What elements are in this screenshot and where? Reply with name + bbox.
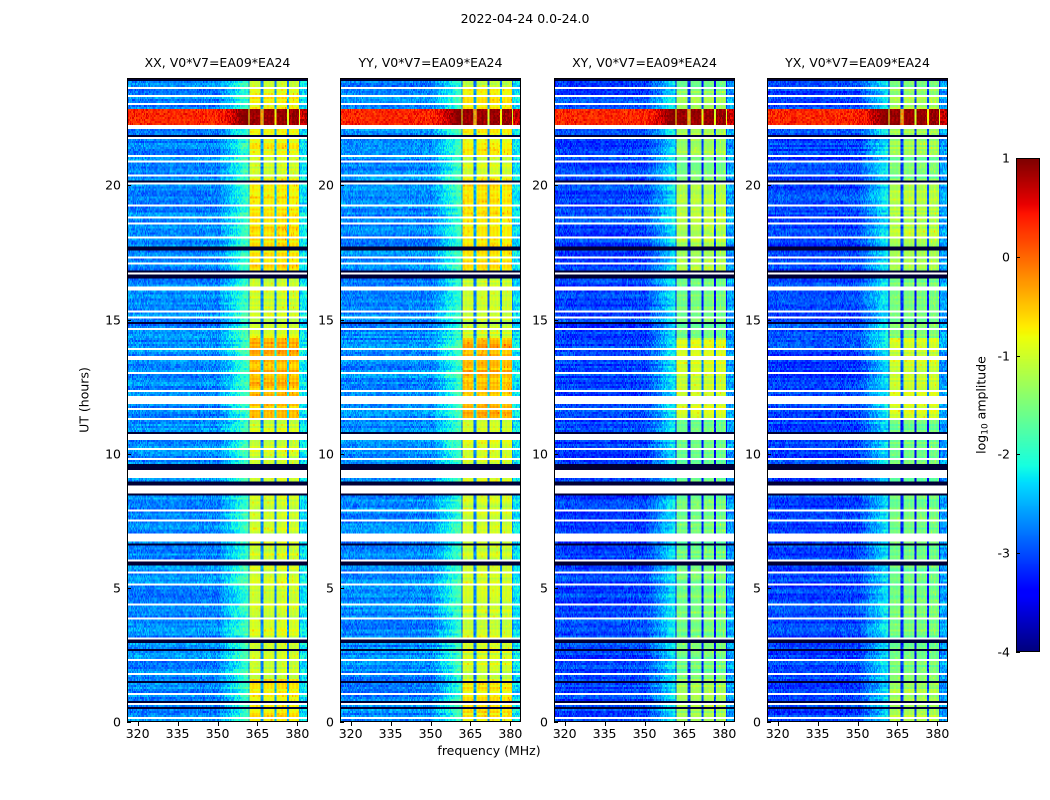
x-tick-label-yx-1: 335 bbox=[806, 726, 830, 741]
colorbar-tick-2 bbox=[1016, 454, 1020, 455]
plot-area-yx[interactable] bbox=[767, 78, 948, 722]
y-tick-label-xy-0: 0 bbox=[512, 715, 548, 730]
y-tick-yy-2 bbox=[340, 454, 344, 455]
colorbar-tick-5 bbox=[1016, 158, 1020, 159]
x-tick-label-xy-0: 320 bbox=[553, 726, 577, 741]
x-tick-label-yy-0: 320 bbox=[339, 726, 363, 741]
y-tick-label-xy-1: 5 bbox=[512, 580, 548, 595]
waterfall-image-yx bbox=[768, 79, 947, 721]
y-tick-yy-0 bbox=[340, 722, 344, 723]
x-tick-label-xx-3: 365 bbox=[245, 726, 269, 741]
y-tick-label-xy-4: 20 bbox=[512, 178, 548, 193]
colorbar-tick-3 bbox=[1016, 356, 1020, 357]
y-tick-yx-3 bbox=[767, 320, 771, 321]
y-tick-yx-4 bbox=[767, 185, 771, 186]
panel-yy[interactable]: YY, V0*V7=EA09*EA24 bbox=[340, 78, 521, 722]
y-tick-label-xx-1: 5 bbox=[85, 580, 121, 595]
figure-suptitle: 2022-04-24 0.0-24.0 bbox=[0, 11, 1050, 26]
y-tick-label-yy-2: 10 bbox=[298, 446, 334, 461]
plot-area-yy[interactable] bbox=[340, 78, 521, 722]
x-tick-label-xx-1: 335 bbox=[166, 726, 190, 741]
x-tick-label-yy-3: 365 bbox=[458, 726, 482, 741]
y-tick-label-yy-3: 15 bbox=[298, 312, 334, 327]
waterfall-image-yy bbox=[341, 79, 520, 721]
panel-xy[interactable]: XY, V0*V7=EA09*EA24 bbox=[554, 78, 735, 722]
y-tick-label-xy-3: 15 bbox=[512, 312, 548, 327]
y-tick-label-yx-2: 10 bbox=[725, 446, 761, 461]
y-tick-xx-1 bbox=[127, 588, 131, 589]
figure-canvas: 2022-04-24 0.0-24.0 XX, V0*V7=EA09*EA24Y… bbox=[0, 0, 1050, 800]
y-tick-label-yy-0: 0 bbox=[298, 715, 334, 730]
panel-xx[interactable]: XX, V0*V7=EA09*EA24 bbox=[127, 78, 308, 722]
y-tick-yx-0 bbox=[767, 722, 771, 723]
y-tick-label-yy-1: 5 bbox=[298, 580, 334, 595]
y-tick-label-xx-4: 20 bbox=[85, 178, 121, 193]
y-tick-label-yx-1: 5 bbox=[725, 580, 761, 595]
panel-title-xx: XX, V0*V7=EA09*EA24 bbox=[145, 55, 291, 70]
y-tick-yx-2 bbox=[767, 454, 771, 455]
y-tick-xy-1 bbox=[554, 588, 558, 589]
waterfall-image-xx bbox=[128, 79, 307, 721]
colorbar[interactable] bbox=[1016, 158, 1040, 652]
y-tick-xy-4 bbox=[554, 185, 558, 186]
y-axis-label: UT (hours) bbox=[77, 367, 92, 433]
x-tick-label-yx-2: 350 bbox=[846, 726, 870, 741]
colorbar-gradient bbox=[1016, 158, 1040, 652]
y-tick-yy-4 bbox=[340, 185, 344, 186]
y-tick-xx-2 bbox=[127, 454, 131, 455]
y-tick-label-yx-0: 0 bbox=[725, 715, 761, 730]
x-tick-label-xy-3: 365 bbox=[672, 726, 696, 741]
y-tick-yy-3 bbox=[340, 320, 344, 321]
y-tick-yy-1 bbox=[340, 588, 344, 589]
y-tick-xy-2 bbox=[554, 454, 558, 455]
x-tick-label-yx-4: 380 bbox=[925, 726, 949, 741]
colorbar-tick-4 bbox=[1016, 257, 1020, 258]
y-tick-xx-3 bbox=[127, 320, 131, 321]
x-tick-label-yx-3: 365 bbox=[885, 726, 909, 741]
panel-title-xy: XY, V0*V7=EA09*EA24 bbox=[572, 55, 717, 70]
y-tick-xy-3 bbox=[554, 320, 558, 321]
y-tick-xx-4 bbox=[127, 185, 131, 186]
y-tick-label-yy-4: 20 bbox=[298, 178, 334, 193]
x-tick-label-yy-1: 335 bbox=[379, 726, 403, 741]
y-tick-yx-1 bbox=[767, 588, 771, 589]
y-tick-label-yx-3: 15 bbox=[725, 312, 761, 327]
colorbar-tick-label-5: 1 bbox=[976, 151, 1010, 166]
plot-area-xx[interactable] bbox=[127, 78, 308, 722]
y-tick-xx-0 bbox=[127, 722, 131, 723]
y-tick-label-xx-0: 0 bbox=[85, 715, 121, 730]
y-tick-xy-0 bbox=[554, 722, 558, 723]
y-tick-label-yx-4: 20 bbox=[725, 178, 761, 193]
x-tick-label-yy-2: 350 bbox=[419, 726, 443, 741]
y-tick-label-xx-3: 15 bbox=[85, 312, 121, 327]
colorbar-tick-0 bbox=[1016, 652, 1020, 653]
x-tick-label-xy-2: 350 bbox=[633, 726, 657, 741]
y-tick-label-xx-2: 10 bbox=[85, 446, 121, 461]
y-tick-label-xy-2: 10 bbox=[512, 446, 548, 461]
colorbar-tick-label-4: 0 bbox=[976, 249, 1010, 264]
plot-area-xy[interactable] bbox=[554, 78, 735, 722]
colorbar-tick-label-0: -4 bbox=[976, 645, 1010, 660]
x-tick-label-xx-0: 320 bbox=[126, 726, 150, 741]
x-axis-label: frequency (MHz) bbox=[437, 743, 540, 758]
colorbar-label: log10 amplitude bbox=[973, 356, 990, 454]
x-tick-label-yx-0: 320 bbox=[766, 726, 790, 741]
colorbar-tick-label-1: -3 bbox=[976, 546, 1010, 561]
waterfall-image-xy bbox=[555, 79, 734, 721]
panel-title-yx: YX, V0*V7=EA09*EA24 bbox=[785, 55, 930, 70]
colorbar-tick-1 bbox=[1016, 553, 1020, 554]
panel-title-yy: YY, V0*V7=EA09*EA24 bbox=[359, 55, 503, 70]
x-tick-label-xx-2: 350 bbox=[206, 726, 230, 741]
panel-yx[interactable]: YX, V0*V7=EA09*EA24 bbox=[767, 78, 948, 722]
x-tick-label-xy-1: 335 bbox=[593, 726, 617, 741]
